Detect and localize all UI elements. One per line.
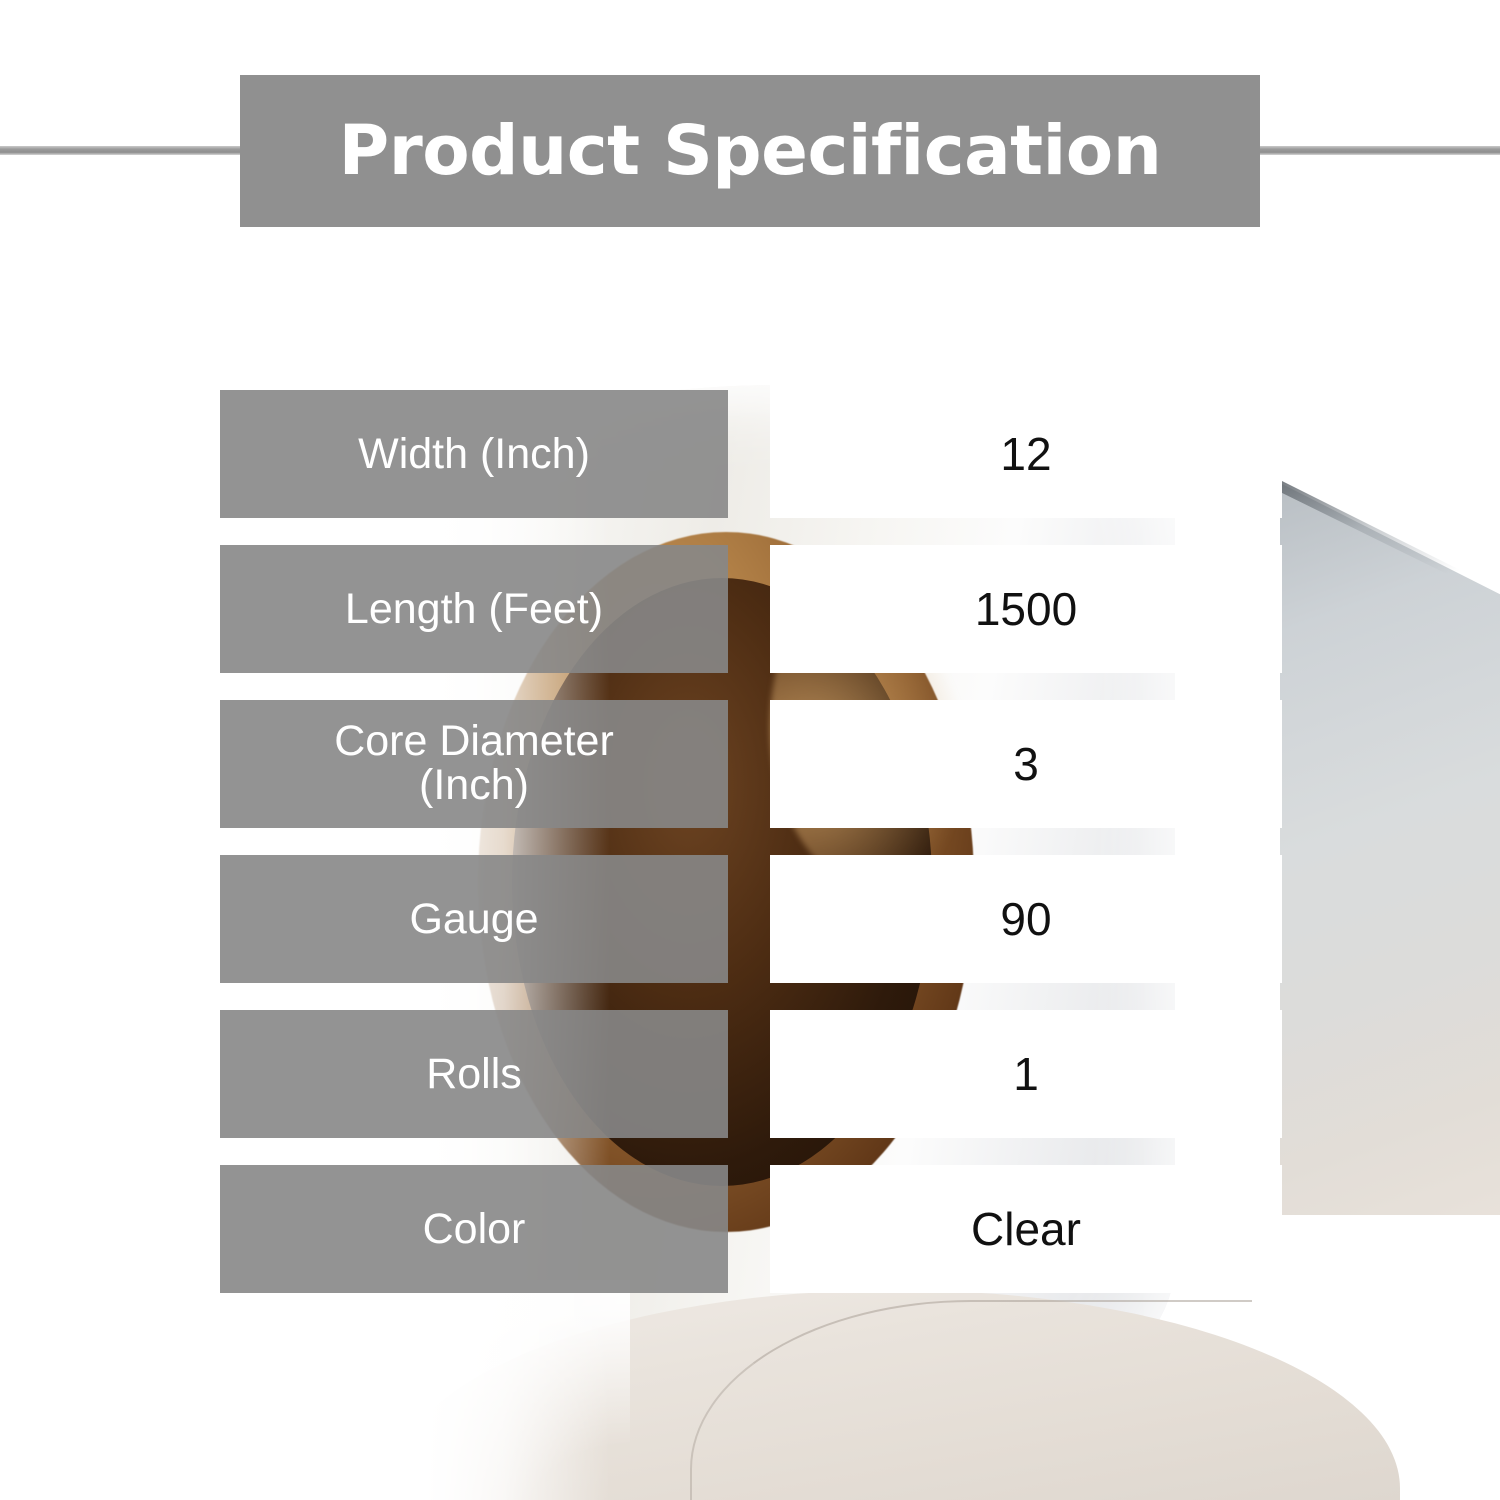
table-row: Length (Feet)1500 — [0, 545, 1500, 673]
table-row: Core Diameter(Inch)3 — [0, 700, 1500, 828]
spec-label-text: Core Diameter(Inch) — [334, 720, 614, 808]
spec-label-cell: Length (Feet) — [220, 545, 728, 673]
spec-value-cell: 90 — [770, 855, 1282, 983]
table-row: Rolls1 — [0, 1010, 1500, 1138]
spec-label-line-1: Core Diameter — [334, 720, 614, 764]
spec-value-cell: 12 — [770, 350, 1282, 518]
spec-table: Width (Inch)12Length (Feet)1500Core Diam… — [0, 0, 1500, 1500]
spec-label-cell: Gauge — [220, 855, 728, 983]
product-specification-card: Product Specification Width (Inch)12Leng… — [0, 0, 1500, 1500]
spec-label-cell: Rolls — [220, 1010, 728, 1138]
table-row: Width (Inch)12 — [0, 390, 1500, 518]
table-row: Gauge90 — [0, 855, 1500, 983]
spec-value-cell: 3 — [770, 700, 1282, 828]
spec-value-cell: Clear — [770, 1165, 1282, 1293]
spec-value-cell: 1500 — [770, 545, 1282, 673]
spec-value-cell: 1 — [770, 1010, 1282, 1138]
spec-label-cell: Color — [220, 1165, 728, 1293]
spec-label-line-2: (Inch) — [334, 764, 614, 808]
spec-label-cell: Core Diameter(Inch) — [220, 700, 728, 828]
table-row: ColorClear — [0, 1165, 1500, 1293]
spec-label-cell: Width (Inch) — [220, 390, 728, 518]
